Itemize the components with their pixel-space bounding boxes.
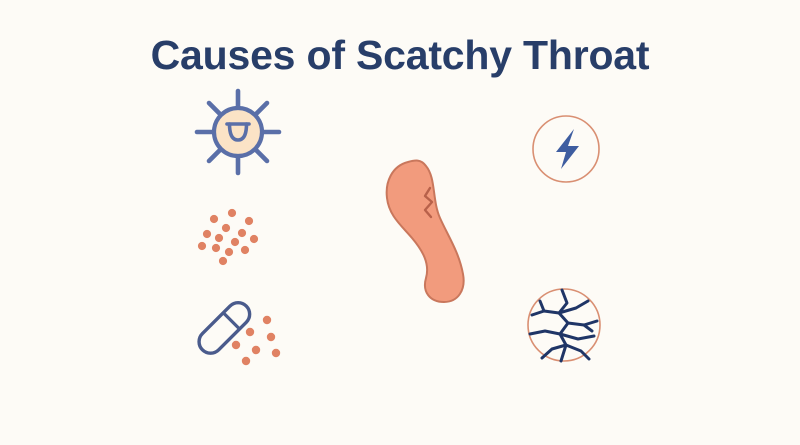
page-title: Causes of Scatchy Throat [0,32,800,79]
throat-illustration [368,140,488,310]
pollen-cluster-icon [192,200,282,272]
lightning-bolt-icon [524,107,608,191]
illustration-canvas: Causes of Scatchy Throat [0,0,800,445]
dryness-cracks-icon [518,279,610,371]
virus-icon [192,86,284,178]
test-tube-swab-icon [188,284,308,374]
